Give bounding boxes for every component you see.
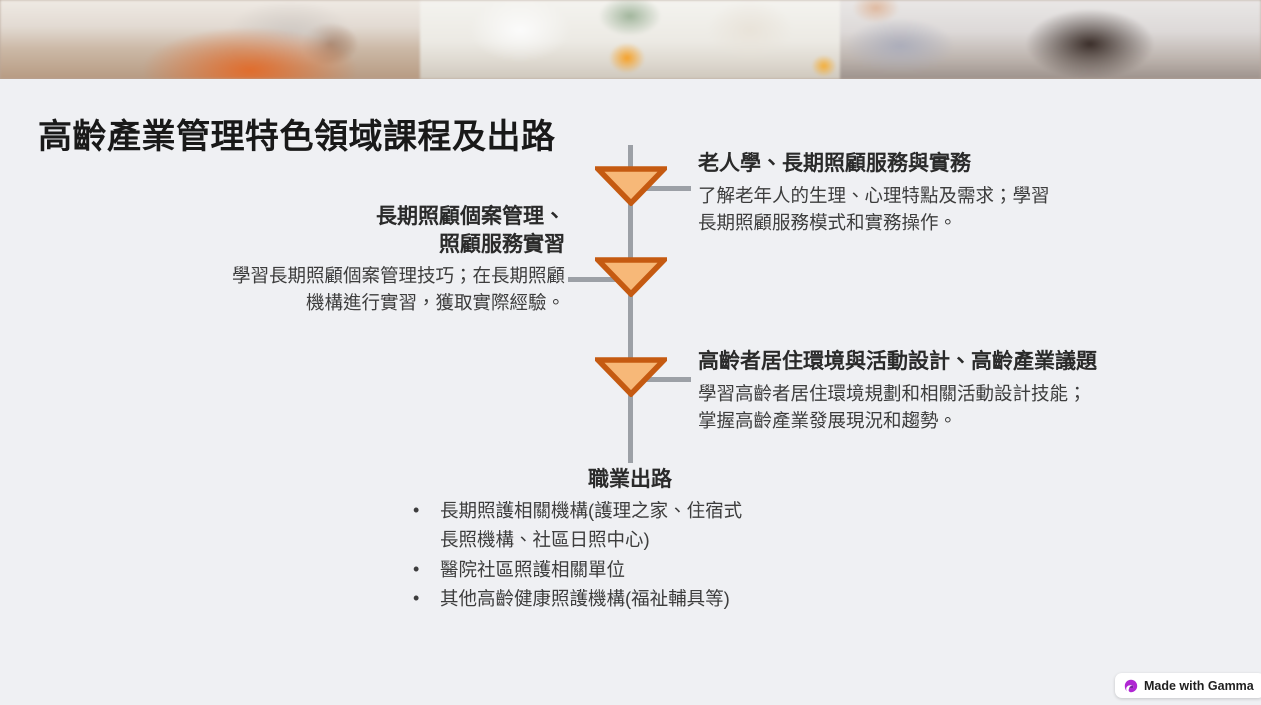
course-description: 學習長期照顧個案管理技巧；在長期照顧 機構進行實習，獲取實際經驗。 (100, 262, 565, 316)
hero-photo-segment-left (0, 0, 420, 79)
triangle-marker-icon-2 (595, 257, 667, 297)
triangle-marker-icon-3 (595, 357, 667, 397)
list-item-line: 醫院社區照護相關單位 (440, 556, 900, 585)
course-heading-line: 照顧服務實習 (100, 231, 565, 259)
hero-image-strip (0, 0, 1261, 79)
list-item: • 長期照護相關機構(護理之家、住宿式 長照機構、社區日照中心) (410, 497, 900, 554)
course-description-line: 學習長期照顧個案管理技巧；在長期照顧 (100, 262, 565, 289)
course-heading-line: 長期照顧個案管理、 (100, 203, 565, 231)
course-description-line: 長期照顧服務模式和實務操作。 (698, 209, 1050, 236)
course-block-living-environment: 高齡者居住環境與活動設計、高齡產業議題 學習高齡者居住環境規劃和相關活動設計技能… (698, 348, 1097, 434)
hero-photo-segment-right (840, 0, 1261, 79)
page-title: 高齡產業管理特色領域課程及出路 (38, 109, 556, 158)
bullet-icon: • (413, 497, 419, 525)
course-block-case-management: 長期照顧個案管理、 照顧服務實習 學習長期照顧個案管理技巧；在長期照顧 機構進行… (100, 203, 565, 316)
bullet-icon: • (413, 585, 419, 613)
career-outlets-title: 職業出路 (360, 466, 900, 493)
list-item-line: 其他高齡健康照護機構(福祉輔具等) (440, 585, 900, 614)
course-description-line: 學習高齡者居住環境規劃和相關活動設計技能； (698, 380, 1097, 407)
course-description-line: 掌握高齡產業發展現況和趨勢。 (698, 407, 1097, 434)
course-description: 了解老年人的生理、心理特點及需求；學習 長期照顧服務模式和實務操作。 (698, 182, 1050, 236)
course-heading: 長期照顧個案管理、 照顧服務實習 (100, 203, 565, 258)
hero-photo (0, 0, 1261, 79)
hero-photo-segment-center (420, 0, 840, 79)
course-heading: 老人學、長期照顧服務與實務 (698, 150, 1050, 178)
course-description-line: 了解老年人的生理、心理特點及需求；學習 (698, 182, 1050, 209)
badge-label: Made with Gamma (1144, 679, 1254, 693)
bullet-icon: • (413, 556, 419, 584)
list-item-line: 長期照護相關機構(護理之家、住宿式 (440, 497, 900, 526)
career-outlets-section: 職業出路 • 長期照護相關機構(護理之家、住宿式 長照機構、社區日照中心) • … (360, 466, 900, 614)
made-with-gamma-badge[interactable]: Made with Gamma (1115, 673, 1261, 698)
course-heading: 高齡者居住環境與活動設計、高齡產業議題 (698, 348, 1097, 376)
course-description: 學習高齡者居住環境規劃和相關活動設計技能； 掌握高齡產業發展現況和趨勢。 (698, 380, 1097, 434)
triangle-marker-icon-1 (595, 166, 667, 206)
course-block-gerontology: 老人學、長期照顧服務與實務 了解老年人的生理、心理特點及需求；學習 長期照顧服務… (698, 150, 1050, 236)
list-item-line: 長照機構、社區日照中心) (440, 526, 900, 555)
gamma-logo-icon (1124, 679, 1138, 693)
list-item: • 其他高齡健康照護機構(福祉輔具等) (410, 585, 900, 614)
career-outlets-list: • 長期照護相關機構(護理之家、住宿式 長照機構、社區日照中心) • 醫院社區照… (360, 497, 900, 614)
course-description-line: 機構進行實習，獲取實際經驗。 (100, 289, 565, 316)
list-item: • 醫院社區照護相關單位 (410, 556, 900, 585)
